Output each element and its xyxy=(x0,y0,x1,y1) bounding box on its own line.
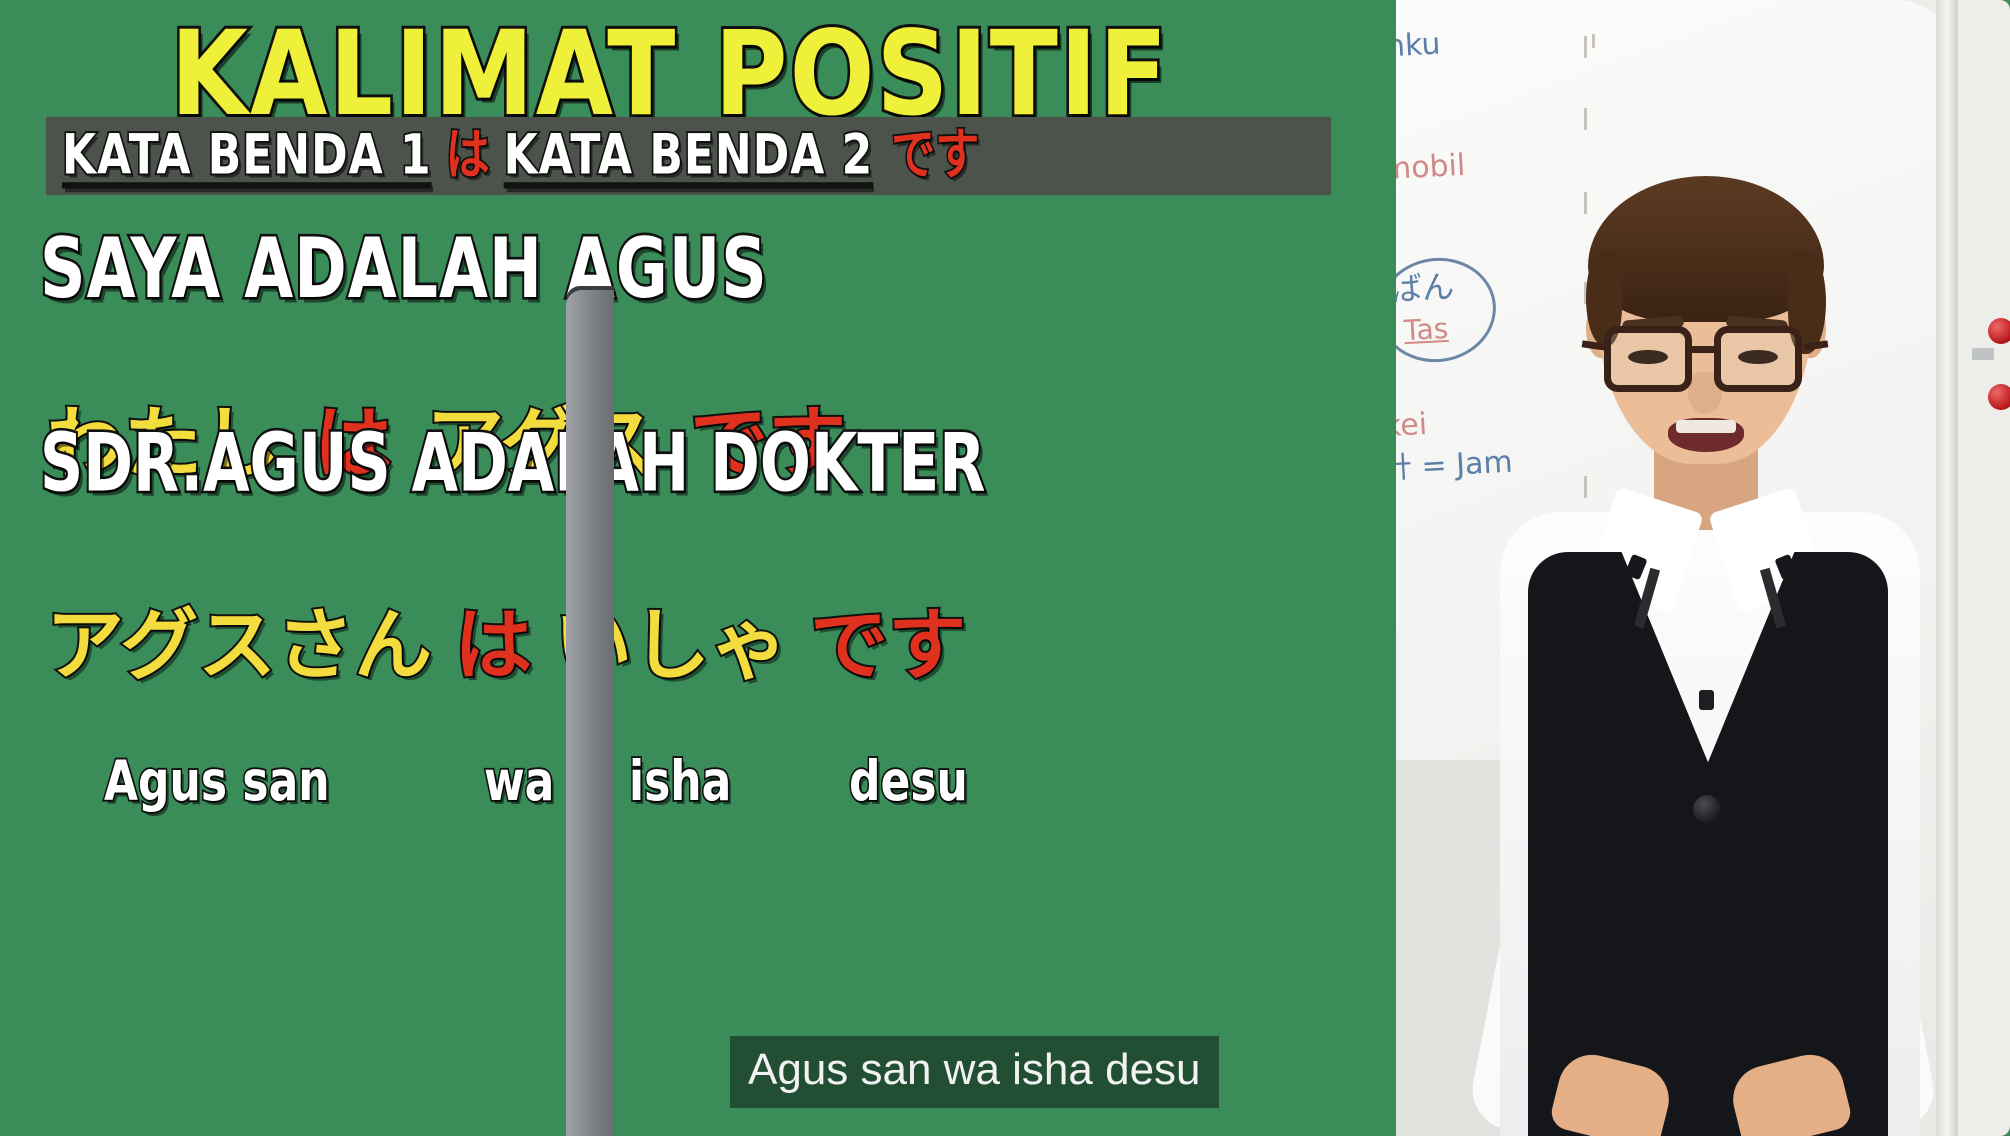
glasses-icon xyxy=(1604,326,1806,400)
presenter-eye-left xyxy=(1628,350,1668,364)
grammar-formula-box: KATA BENDA 1 は KATA BENDA 2 です xyxy=(46,117,1331,195)
shirt-button xyxy=(1699,690,1714,710)
jp2-copula-desu: です xyxy=(810,600,966,692)
romaji-agus-san: Agus san xyxy=(104,750,330,815)
formula-noun1: KATA BENDA 1 xyxy=(62,125,432,188)
jp2-word-agususan: アグスさん xyxy=(46,600,432,692)
formula-copula-desu: です xyxy=(873,125,979,188)
red-knob-icon xyxy=(1988,318,2010,344)
example-2-japanese: アグスさん は いしゃ です xyxy=(46,600,966,692)
romaji-wa: wa xyxy=(484,750,554,815)
romaji-isha: isha xyxy=(629,750,731,815)
presenter-teeth xyxy=(1676,420,1736,433)
side-cabinet xyxy=(566,290,614,1136)
glasses-bridge xyxy=(1690,346,1718,353)
red-knob-icon xyxy=(1988,384,2010,410)
presenter-figure xyxy=(1396,0,2010,1136)
romaji-desu: desu xyxy=(849,750,968,815)
presenter-eye-right xyxy=(1738,350,1778,364)
vest-button xyxy=(1693,795,1721,823)
formula-noun2: KATA BENDA 2 xyxy=(504,125,874,188)
lesson-slide-panel: KALIMAT POSITIF KATA BENDA 1 は KATA BEND… xyxy=(0,0,1396,1136)
presenter-video-panel: nku mobil ばん Tas kei 計 = Jam xyxy=(1396,0,2010,1136)
example-1-indonesian: SAYA ADALAH AGUS xyxy=(40,222,768,316)
formula-particle-wa: は xyxy=(432,125,504,188)
example-2-romaji-row: Agus san wa isha desu xyxy=(84,750,984,830)
example-2-indonesian: SDR.AGUS ADALAH DOKTER xyxy=(40,418,986,509)
video-lesson-screen: KALIMAT POSITIF KATA BENDA 1 は KATA BEND… xyxy=(0,0,2010,1136)
jp2-particle-wa: は xyxy=(454,600,532,692)
cabinet-handle xyxy=(1972,348,1994,360)
subtitle-caption: Agus san wa isha desu xyxy=(730,1036,1219,1108)
